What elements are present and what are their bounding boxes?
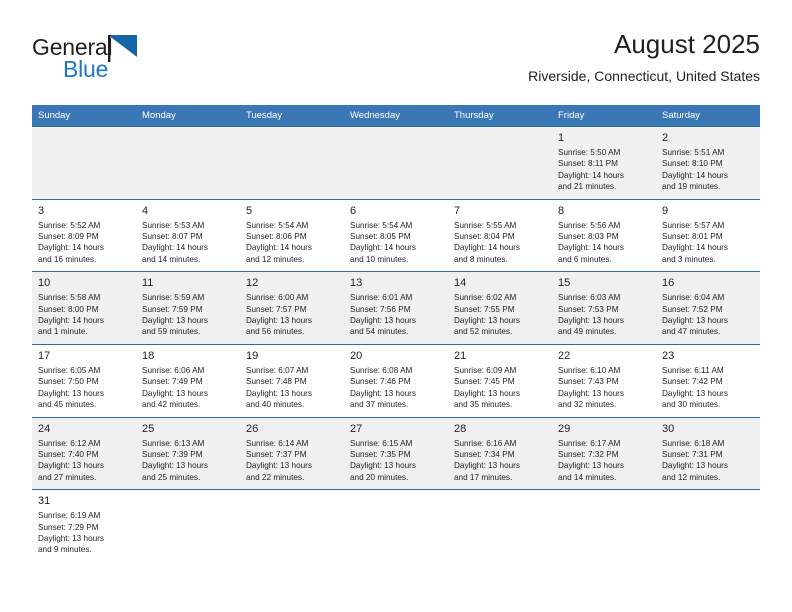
day-sun-info: Sunrise: 6:14 AMSunset: 7:37 PMDaylight:… xyxy=(246,438,338,484)
day-sunset-text: Sunset: 7:48 PM xyxy=(246,376,338,387)
day-daylight-line1-text: Daylight: 13 hours xyxy=(558,388,650,399)
day-daylight-line2-text: and 22 minutes. xyxy=(246,472,338,483)
day-daylight-line1-text: Daylight: 13 hours xyxy=(662,460,754,471)
day-sun-info: Sunrise: 6:04 AMSunset: 7:52 PMDaylight:… xyxy=(662,292,754,338)
day-daylight-line1-text: Daylight: 13 hours xyxy=(350,388,442,399)
day-number: 9 xyxy=(662,204,754,218)
day-daylight-line1-text: Daylight: 13 hours xyxy=(454,460,546,471)
day-sunset-text: Sunset: 7:39 PM xyxy=(142,449,234,460)
day-sunrise-text: Sunrise: 5:54 AM xyxy=(350,220,442,231)
day-daylight-line1-text: Daylight: 13 hours xyxy=(246,388,338,399)
calendar-day-cell[interactable]: 28Sunrise: 6:16 AMSunset: 7:34 PMDayligh… xyxy=(448,417,552,490)
day-sun-info: Sunrise: 5:55 AMSunset: 8:04 PMDaylight:… xyxy=(454,220,546,266)
day-number: 21 xyxy=(454,349,546,363)
day-number: 26 xyxy=(246,422,338,436)
day-daylight-line1-text: Daylight: 14 hours xyxy=(38,242,130,253)
calendar-week-row: 24Sunrise: 6:12 AMSunset: 7:40 PMDayligh… xyxy=(32,417,760,490)
day-number: 12 xyxy=(246,276,338,290)
calendar-day-cell[interactable]: 17Sunrise: 6:05 AMSunset: 7:50 PMDayligh… xyxy=(32,344,136,417)
day-daylight-line2-text: and 19 minutes. xyxy=(662,181,754,192)
day-sunrise-text: Sunrise: 6:19 AM xyxy=(38,510,130,521)
weekday-header-sunday: Sunday xyxy=(32,105,136,127)
day-sunrise-text: Sunrise: 6:05 AM xyxy=(38,365,130,376)
day-daylight-line2-text: and 3 minutes. xyxy=(662,254,754,265)
day-sunset-text: Sunset: 7:29 PM xyxy=(38,522,130,533)
day-daylight-line1-text: Daylight: 13 hours xyxy=(246,460,338,471)
day-sunrise-text: Sunrise: 6:07 AM xyxy=(246,365,338,376)
day-sun-info: Sunrise: 6:10 AMSunset: 7:43 PMDaylight:… xyxy=(558,365,650,411)
day-sun-info: Sunrise: 5:51 AMSunset: 8:10 PMDaylight:… xyxy=(662,147,754,193)
day-daylight-line2-text: and 37 minutes. xyxy=(350,399,442,410)
day-daylight-line2-text: and 6 minutes. xyxy=(558,254,650,265)
day-number: 10 xyxy=(38,276,130,290)
calendar-day-cell[interactable]: 9Sunrise: 5:57 AMSunset: 8:01 PMDaylight… xyxy=(656,199,760,272)
day-number: 16 xyxy=(662,276,754,290)
triangle-flag-icon xyxy=(108,35,138,62)
day-daylight-line1-text: Daylight: 13 hours xyxy=(558,315,650,326)
day-daylight-line2-text: and 59 minutes. xyxy=(142,326,234,337)
day-daylight-line2-text: and 52 minutes. xyxy=(454,326,546,337)
day-sun-info: Sunrise: 5:53 AMSunset: 8:07 PMDaylight:… xyxy=(142,220,234,266)
calendar-day-cell[interactable]: 15Sunrise: 6:03 AMSunset: 7:53 PMDayligh… xyxy=(552,272,656,345)
day-sun-info: Sunrise: 6:09 AMSunset: 7:45 PMDaylight:… xyxy=(454,365,546,411)
weekday-header-monday: Monday xyxy=(136,105,240,127)
calendar-cell-empty xyxy=(448,127,552,200)
day-sunrise-text: Sunrise: 6:03 AM xyxy=(558,292,650,303)
day-daylight-line2-text: and 8 minutes. xyxy=(454,254,546,265)
day-daylight-line1-text: Daylight: 13 hours xyxy=(350,460,442,471)
day-daylight-line2-text: and 12 minutes. xyxy=(246,254,338,265)
day-sunrise-text: Sunrise: 6:15 AM xyxy=(350,438,442,449)
day-sunset-text: Sunset: 7:34 PM xyxy=(454,449,546,460)
day-sunset-text: Sunset: 7:43 PM xyxy=(558,376,650,387)
day-sunrise-text: Sunrise: 6:08 AM xyxy=(350,365,442,376)
day-number: 22 xyxy=(558,349,650,363)
day-number: 14 xyxy=(454,276,546,290)
day-daylight-line1-text: Daylight: 14 hours xyxy=(142,242,234,253)
weekday-header-thursday: Thursday xyxy=(448,105,552,127)
day-sunrise-text: Sunrise: 6:17 AM xyxy=(558,438,650,449)
day-sunrise-text: Sunrise: 6:02 AM xyxy=(454,292,546,303)
page-header: General Blue August 2025 Riverside, Conn… xyxy=(32,28,760,98)
day-sunrise-text: Sunrise: 6:09 AM xyxy=(454,365,546,376)
weekday-header-tuesday: Tuesday xyxy=(240,105,344,127)
day-daylight-line2-text: and 25 minutes. xyxy=(142,472,234,483)
day-daylight-line2-text: and 17 minutes. xyxy=(454,472,546,483)
day-daylight-line1-text: Daylight: 13 hours xyxy=(142,388,234,399)
calendar-day-cell[interactable]: 12Sunrise: 6:00 AMSunset: 7:57 PMDayligh… xyxy=(240,272,344,345)
day-number: 25 xyxy=(142,422,234,436)
day-sun-info: Sunrise: 5:56 AMSunset: 8:03 PMDaylight:… xyxy=(558,220,650,266)
day-sun-info: Sunrise: 6:16 AMSunset: 7:34 PMDaylight:… xyxy=(454,438,546,484)
calendar-day-cell[interactable]: 31Sunrise: 6:19 AMSunset: 7:29 PMDayligh… xyxy=(32,490,136,562)
day-sunrise-text: Sunrise: 5:56 AM xyxy=(558,220,650,231)
day-sunset-text: Sunset: 7:42 PM xyxy=(662,376,754,387)
day-sun-info: Sunrise: 5:59 AMSunset: 7:59 PMDaylight:… xyxy=(142,292,234,338)
day-sunset-text: Sunset: 8:07 PM xyxy=(142,231,234,242)
day-daylight-line2-text: and 1 minute. xyxy=(38,326,130,337)
day-daylight-line2-text: and 32 minutes. xyxy=(558,399,650,410)
day-number: 7 xyxy=(454,204,546,218)
calendar-day-cell[interactable]: 7Sunrise: 5:55 AMSunset: 8:04 PMDaylight… xyxy=(448,199,552,272)
calendar-cell-empty xyxy=(344,127,448,200)
calendar-day-cell[interactable]: 14Sunrise: 6:02 AMSunset: 7:55 PMDayligh… xyxy=(448,272,552,345)
day-sun-info: Sunrise: 5:58 AMSunset: 8:00 PMDaylight:… xyxy=(38,292,130,338)
calendar-day-cell[interactable]: 5Sunrise: 5:54 AMSunset: 8:06 PMDaylight… xyxy=(240,199,344,272)
day-sun-info: Sunrise: 5:54 AMSunset: 8:05 PMDaylight:… xyxy=(350,220,442,266)
calendar-day-cell[interactable]: 8Sunrise: 5:56 AMSunset: 8:03 PMDaylight… xyxy=(552,199,656,272)
day-daylight-line1-text: Daylight: 13 hours xyxy=(142,460,234,471)
day-sun-info: Sunrise: 6:00 AMSunset: 7:57 PMDaylight:… xyxy=(246,292,338,338)
day-daylight-line2-text: and 49 minutes. xyxy=(558,326,650,337)
calendar-day-cell[interactable]: 3Sunrise: 5:52 AMSunset: 8:09 PMDaylight… xyxy=(32,199,136,272)
weekday-header-friday: Friday xyxy=(552,105,656,127)
day-sun-info: Sunrise: 6:07 AMSunset: 7:48 PMDaylight:… xyxy=(246,365,338,411)
day-sunrise-text: Sunrise: 6:11 AM xyxy=(662,365,754,376)
calendar-day-cell[interactable]: 2Sunrise: 5:51 AMSunset: 8:10 PMDaylight… xyxy=(656,127,760,200)
day-sunrise-text: Sunrise: 5:53 AM xyxy=(142,220,234,231)
day-sun-info: Sunrise: 6:02 AMSunset: 7:55 PMDaylight:… xyxy=(454,292,546,338)
day-sunrise-text: Sunrise: 5:57 AM xyxy=(662,220,754,231)
day-sunset-text: Sunset: 8:09 PM xyxy=(38,231,130,242)
calendar-cell-empty xyxy=(240,127,344,200)
day-daylight-line1-text: Daylight: 14 hours xyxy=(558,242,650,253)
brand-logo[interactable]: General Blue xyxy=(32,34,212,90)
day-daylight-line1-text: Daylight: 13 hours xyxy=(142,315,234,326)
day-sunrise-text: Sunrise: 5:51 AM xyxy=(662,147,754,158)
day-number: 29 xyxy=(558,422,650,436)
day-daylight-line2-text: and 35 minutes. xyxy=(454,399,546,410)
day-daylight-line2-text: and 16 minutes. xyxy=(38,254,130,265)
calendar-day-cell[interactable]: 20Sunrise: 6:08 AMSunset: 7:46 PMDayligh… xyxy=(344,344,448,417)
calendar-week-row: 1Sunrise: 5:50 AMSunset: 8:11 PMDaylight… xyxy=(32,127,760,200)
day-daylight-line1-text: Daylight: 14 hours xyxy=(558,170,650,181)
day-sun-info: Sunrise: 6:06 AMSunset: 7:49 PMDaylight:… xyxy=(142,365,234,411)
day-daylight-line1-text: Daylight: 14 hours xyxy=(38,315,130,326)
day-sun-info: Sunrise: 6:15 AMSunset: 7:35 PMDaylight:… xyxy=(350,438,442,484)
day-sunset-text: Sunset: 7:35 PM xyxy=(350,449,442,460)
day-sunset-text: Sunset: 7:31 PM xyxy=(662,449,754,460)
calendar-cell-empty xyxy=(32,127,136,200)
day-number: 4 xyxy=(142,204,234,218)
calendar-day-cell[interactable]: 13Sunrise: 6:01 AMSunset: 7:56 PMDayligh… xyxy=(344,272,448,345)
day-sunset-text: Sunset: 7:52 PM xyxy=(662,304,754,315)
day-sun-info: Sunrise: 6:13 AMSunset: 7:39 PMDaylight:… xyxy=(142,438,234,484)
calendar-day-cell[interactable]: 23Sunrise: 6:11 AMSunset: 7:42 PMDayligh… xyxy=(656,344,760,417)
day-number: 1 xyxy=(558,131,650,145)
day-number: 8 xyxy=(558,204,650,218)
day-number: 23 xyxy=(662,349,754,363)
calendar-cell-empty xyxy=(344,490,448,562)
day-sun-info: Sunrise: 6:03 AMSunset: 7:53 PMDaylight:… xyxy=(558,292,650,338)
day-sunset-text: Sunset: 8:05 PM xyxy=(350,231,442,242)
calendar-cell-empty xyxy=(656,490,760,562)
day-sunset-text: Sunset: 7:55 PM xyxy=(454,304,546,315)
day-number: 28 xyxy=(454,422,546,436)
day-sunset-text: Sunset: 8:00 PM xyxy=(38,304,130,315)
day-sunset-text: Sunset: 8:04 PM xyxy=(454,231,546,242)
day-sunset-text: Sunset: 7:46 PM xyxy=(350,376,442,387)
calendar-header-row: SundayMondayTuesdayWednesdayThursdayFrid… xyxy=(32,105,760,127)
day-sunset-text: Sunset: 7:32 PM xyxy=(558,449,650,460)
day-sunset-text: Sunset: 7:50 PM xyxy=(38,376,130,387)
calendar-week-row: 10Sunrise: 5:58 AMSunset: 8:00 PMDayligh… xyxy=(32,272,760,345)
calendar-day-cell[interactable]: 11Sunrise: 5:59 AMSunset: 7:59 PMDayligh… xyxy=(136,272,240,345)
day-daylight-line2-text: and 27 minutes. xyxy=(38,472,130,483)
calendar-day-cell[interactable]: 24Sunrise: 6:12 AMSunset: 7:40 PMDayligh… xyxy=(32,417,136,490)
calendar-day-cell[interactable]: 16Sunrise: 6:04 AMSunset: 7:52 PMDayligh… xyxy=(656,272,760,345)
calendar-day-cell[interactable]: 21Sunrise: 6:09 AMSunset: 7:45 PMDayligh… xyxy=(448,344,552,417)
day-number: 13 xyxy=(350,276,442,290)
day-number: 19 xyxy=(246,349,338,363)
day-sunset-text: Sunset: 7:37 PM xyxy=(246,449,338,460)
day-daylight-line1-text: Daylight: 14 hours xyxy=(454,242,546,253)
page-title: August 2025 xyxy=(528,28,760,60)
day-sun-info: Sunrise: 6:08 AMSunset: 7:46 PMDaylight:… xyxy=(350,365,442,411)
day-sunrise-text: Sunrise: 6:00 AM xyxy=(246,292,338,303)
day-daylight-line2-text: and 54 minutes. xyxy=(350,326,442,337)
day-daylight-line1-text: Daylight: 13 hours xyxy=(662,315,754,326)
day-daylight-line2-text: and 40 minutes. xyxy=(246,399,338,410)
day-number: 5 xyxy=(246,204,338,218)
day-sunrise-text: Sunrise: 6:06 AM xyxy=(142,365,234,376)
day-sunset-text: Sunset: 7:59 PM xyxy=(142,304,234,315)
day-sunset-text: Sunset: 7:56 PM xyxy=(350,304,442,315)
calendar-week-row: 31Sunrise: 6:19 AMSunset: 7:29 PMDayligh… xyxy=(32,490,760,562)
day-daylight-line2-text: and 56 minutes. xyxy=(246,326,338,337)
day-number: 17 xyxy=(38,349,130,363)
day-number: 18 xyxy=(142,349,234,363)
calendar-cell-empty xyxy=(552,490,656,562)
day-sun-info: Sunrise: 6:11 AMSunset: 7:42 PMDaylight:… xyxy=(662,365,754,411)
day-daylight-line2-text: and 12 minutes. xyxy=(662,472,754,483)
day-daylight-line1-text: Daylight: 13 hours xyxy=(38,388,130,399)
day-sun-info: Sunrise: 5:50 AMSunset: 8:11 PMDaylight:… xyxy=(558,147,650,193)
day-sunset-text: Sunset: 7:57 PM xyxy=(246,304,338,315)
calendar-cell-empty xyxy=(240,490,344,562)
day-sun-info: Sunrise: 5:54 AMSunset: 8:06 PMDaylight:… xyxy=(246,220,338,266)
calendar-day-cell[interactable]: 29Sunrise: 6:17 AMSunset: 7:32 PMDayligh… xyxy=(552,417,656,490)
day-daylight-line1-text: Daylight: 14 hours xyxy=(662,242,754,253)
day-daylight-line2-text: and 45 minutes. xyxy=(38,399,130,410)
day-daylight-line1-text: Daylight: 14 hours xyxy=(662,170,754,181)
day-daylight-line2-text: and 47 minutes. xyxy=(662,326,754,337)
day-sunrise-text: Sunrise: 6:12 AM xyxy=(38,438,130,449)
calendar-day-cell[interactable]: 18Sunrise: 6:06 AMSunset: 7:49 PMDayligh… xyxy=(136,344,240,417)
day-sunrise-text: Sunrise: 6:10 AM xyxy=(558,365,650,376)
calendar-day-cell[interactable]: 10Sunrise: 5:58 AMSunset: 8:00 PMDayligh… xyxy=(32,272,136,345)
day-sunrise-text: Sunrise: 5:52 AM xyxy=(38,220,130,231)
calendar-page: General Blue August 2025 Riverside, Conn… xyxy=(0,0,792,612)
day-daylight-line1-text: Daylight: 14 hours xyxy=(246,242,338,253)
day-daylight-line2-text: and 14 minutes. xyxy=(142,254,234,265)
day-sun-info: Sunrise: 6:01 AMSunset: 7:56 PMDaylight:… xyxy=(350,292,442,338)
day-daylight-line2-text: and 14 minutes. xyxy=(558,472,650,483)
day-sunrise-text: Sunrise: 5:59 AM xyxy=(142,292,234,303)
calendar-grid: SundayMondayTuesdayWednesdayThursdayFrid… xyxy=(32,105,760,562)
calendar-day-cell[interactable]: 25Sunrise: 6:13 AMSunset: 7:39 PMDayligh… xyxy=(136,417,240,490)
calendar-week-row: 3Sunrise: 5:52 AMSunset: 8:09 PMDaylight… xyxy=(32,199,760,272)
day-sunset-text: Sunset: 8:10 PM xyxy=(662,158,754,169)
day-daylight-line1-text: Daylight: 13 hours xyxy=(454,315,546,326)
day-number: 6 xyxy=(350,204,442,218)
calendar-day-cell[interactable]: 6Sunrise: 5:54 AMSunset: 8:05 PMDaylight… xyxy=(344,199,448,272)
day-daylight-line2-text: and 20 minutes. xyxy=(350,472,442,483)
calendar-day-cell[interactable]: 30Sunrise: 6:18 AMSunset: 7:31 PMDayligh… xyxy=(656,417,760,490)
day-sunset-text: Sunset: 8:01 PM xyxy=(662,231,754,242)
day-sun-info: Sunrise: 6:05 AMSunset: 7:50 PMDaylight:… xyxy=(38,365,130,411)
day-sun-info: Sunrise: 6:12 AMSunset: 7:40 PMDaylight:… xyxy=(38,438,130,484)
day-daylight-line1-text: Daylight: 13 hours xyxy=(246,315,338,326)
day-daylight-line1-text: Daylight: 13 hours xyxy=(350,315,442,326)
day-sun-info: Sunrise: 6:19 AMSunset: 7:29 PMDaylight:… xyxy=(38,510,130,556)
day-daylight-line2-text: and 30 minutes. xyxy=(662,399,754,410)
day-number: 3 xyxy=(38,204,130,218)
day-number: 27 xyxy=(350,422,442,436)
calendar-cell-empty xyxy=(136,127,240,200)
day-sunrise-text: Sunrise: 5:58 AM xyxy=(38,292,130,303)
calendar-day-cell[interactable]: 4Sunrise: 5:53 AMSunset: 8:07 PMDaylight… xyxy=(136,199,240,272)
calendar-day-cell[interactable]: 1Sunrise: 5:50 AMSunset: 8:11 PMDaylight… xyxy=(552,127,656,200)
day-number: 11 xyxy=(142,276,234,290)
day-daylight-line1-text: Daylight: 13 hours xyxy=(558,460,650,471)
day-daylight-line1-text: Daylight: 13 hours xyxy=(38,533,130,544)
day-sunrise-text: Sunrise: 5:54 AM xyxy=(246,220,338,231)
calendar-day-cell[interactable]: 27Sunrise: 6:15 AMSunset: 7:35 PMDayligh… xyxy=(344,417,448,490)
weekday-header-saturday: Saturday xyxy=(656,105,760,127)
calendar-cell-empty xyxy=(448,490,552,562)
day-number: 24 xyxy=(38,422,130,436)
day-sunset-text: Sunset: 7:40 PM xyxy=(38,449,130,460)
day-sunrise-text: Sunrise: 5:55 AM xyxy=(454,220,546,231)
page-subtitle: Riverside, Connecticut, United States xyxy=(528,66,760,86)
day-daylight-line1-text: Daylight: 13 hours xyxy=(662,388,754,399)
day-sun-info: Sunrise: 5:52 AMSunset: 8:09 PMDaylight:… xyxy=(38,220,130,266)
day-sun-info: Sunrise: 5:57 AMSunset: 8:01 PMDaylight:… xyxy=(662,220,754,266)
day-sunrise-text: Sunrise: 6:18 AM xyxy=(662,438,754,449)
day-sunrise-text: Sunrise: 6:13 AM xyxy=(142,438,234,449)
day-number: 30 xyxy=(662,422,754,436)
day-sunset-text: Sunset: 8:06 PM xyxy=(246,231,338,242)
calendar-cell-empty xyxy=(136,490,240,562)
day-number: 2 xyxy=(662,131,754,145)
day-sunset-text: Sunset: 7:45 PM xyxy=(454,376,546,387)
title-block: August 2025 Riverside, Connecticut, Unit… xyxy=(528,28,760,86)
day-sunset-text: Sunset: 7:53 PM xyxy=(558,304,650,315)
day-daylight-line1-text: Daylight: 14 hours xyxy=(350,242,442,253)
day-daylight-line2-text: and 9 minutes. xyxy=(38,544,130,555)
calendar-week-row: 17Sunrise: 6:05 AMSunset: 7:50 PMDayligh… xyxy=(32,344,760,417)
day-number: 31 xyxy=(38,494,130,508)
day-daylight-line2-text: and 10 minutes. xyxy=(350,254,442,265)
calendar-day-cell[interactable]: 26Sunrise: 6:14 AMSunset: 7:37 PMDayligh… xyxy=(240,417,344,490)
day-sun-info: Sunrise: 6:18 AMSunset: 7:31 PMDaylight:… xyxy=(662,438,754,484)
day-daylight-line2-text: and 21 minutes. xyxy=(558,181,650,192)
day-daylight-line1-text: Daylight: 13 hours xyxy=(38,460,130,471)
calendar-body: 1Sunrise: 5:50 AMSunset: 8:11 PMDaylight… xyxy=(32,127,760,562)
day-daylight-line2-text: and 42 minutes. xyxy=(142,399,234,410)
day-sunset-text: Sunset: 8:03 PM xyxy=(558,231,650,242)
day-daylight-line1-text: Daylight: 13 hours xyxy=(454,388,546,399)
day-sunrise-text: Sunrise: 5:50 AM xyxy=(558,147,650,158)
day-number: 15 xyxy=(558,276,650,290)
calendar-day-cell[interactable]: 19Sunrise: 6:07 AMSunset: 7:48 PMDayligh… xyxy=(240,344,344,417)
day-sunset-text: Sunset: 7:49 PM xyxy=(142,376,234,387)
day-sunrise-text: Sunrise: 6:01 AM xyxy=(350,292,442,303)
calendar-day-cell[interactable]: 22Sunrise: 6:10 AMSunset: 7:43 PMDayligh… xyxy=(552,344,656,417)
day-sunrise-text: Sunrise: 6:16 AM xyxy=(454,438,546,449)
day-sun-info: Sunrise: 6:17 AMSunset: 7:32 PMDaylight:… xyxy=(558,438,650,484)
day-number: 20 xyxy=(350,349,442,363)
day-sunrise-text: Sunrise: 6:04 AM xyxy=(662,292,754,303)
weekday-header-wednesday: Wednesday xyxy=(344,105,448,127)
day-sunset-text: Sunset: 8:11 PM xyxy=(558,158,650,169)
day-sunrise-text: Sunrise: 6:14 AM xyxy=(246,438,338,449)
